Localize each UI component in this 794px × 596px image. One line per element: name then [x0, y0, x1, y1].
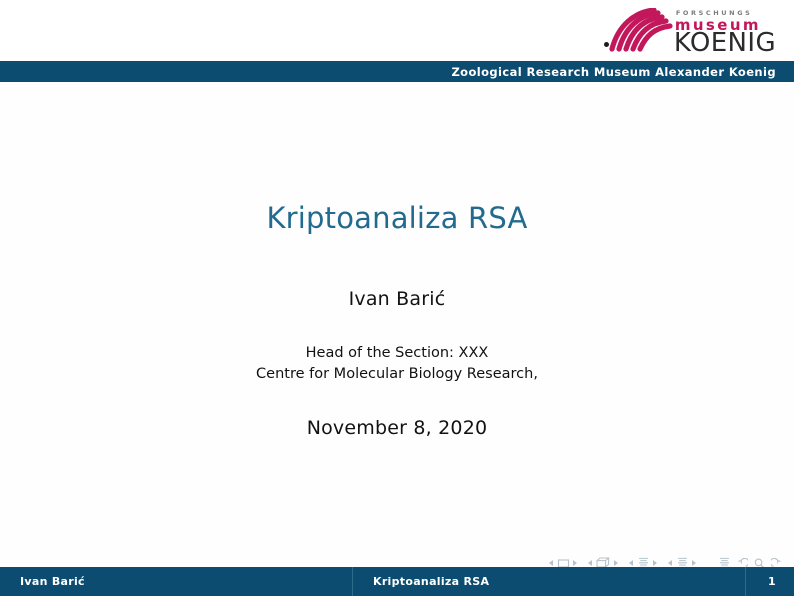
prev-slide-button[interactable]	[549, 560, 553, 566]
next-subsection-button[interactable]	[653, 560, 657, 566]
header-logo-band: FORSCHUNGS museum KOENIG	[0, 0, 794, 61]
institution-bar: Zoological Research Museum Alexander Koe…	[0, 61, 794, 82]
affiliation-line-1: Head of the Section: XXX	[0, 343, 794, 364]
next-slide-button[interactable]	[573, 560, 577, 566]
affiliation-line-2: Centre for Molecular Biology Research,	[0, 364, 794, 385]
wing-mark-svg	[602, 8, 676, 54]
museum-koenig-logo: FORSCHUNGS museum KOENIG	[602, 8, 776, 56]
footer-bar: Ivan Barić Kriptoanaliza RSA 1	[0, 567, 794, 596]
slide-content: Kriptoanaliza RSA Ivan Barić Head of the…	[0, 82, 794, 567]
prev-subsection-button[interactable]	[629, 560, 633, 566]
logo-koenig-text: KOENIG	[674, 30, 776, 56]
footer-page-number: 1	[746, 567, 794, 596]
next-frame-button[interactable]	[614, 560, 618, 566]
presentation-date: November 8, 2020	[0, 417, 794, 439]
page-title: Kriptoanaliza RSA	[0, 201, 794, 235]
affiliation-block: Head of the Section: XXX Centre for Mole…	[0, 343, 794, 384]
prev-section-button[interactable]	[668, 560, 672, 566]
footer-title: Kriptoanaliza RSA	[353, 567, 746, 596]
footer-author: Ivan Barić	[0, 567, 353, 596]
logo-dot-icon	[604, 42, 609, 47]
institution-bar-label: Zoological Research Museum Alexander Koe…	[451, 65, 794, 79]
logo-wordmark: FORSCHUNGS museum KOENIG	[674, 10, 776, 56]
author-name: Ivan Barić	[0, 288, 794, 310]
prev-frame-button[interactable]	[588, 560, 592, 566]
next-section-button[interactable]	[692, 560, 696, 566]
wing-mark-icon	[602, 8, 676, 54]
